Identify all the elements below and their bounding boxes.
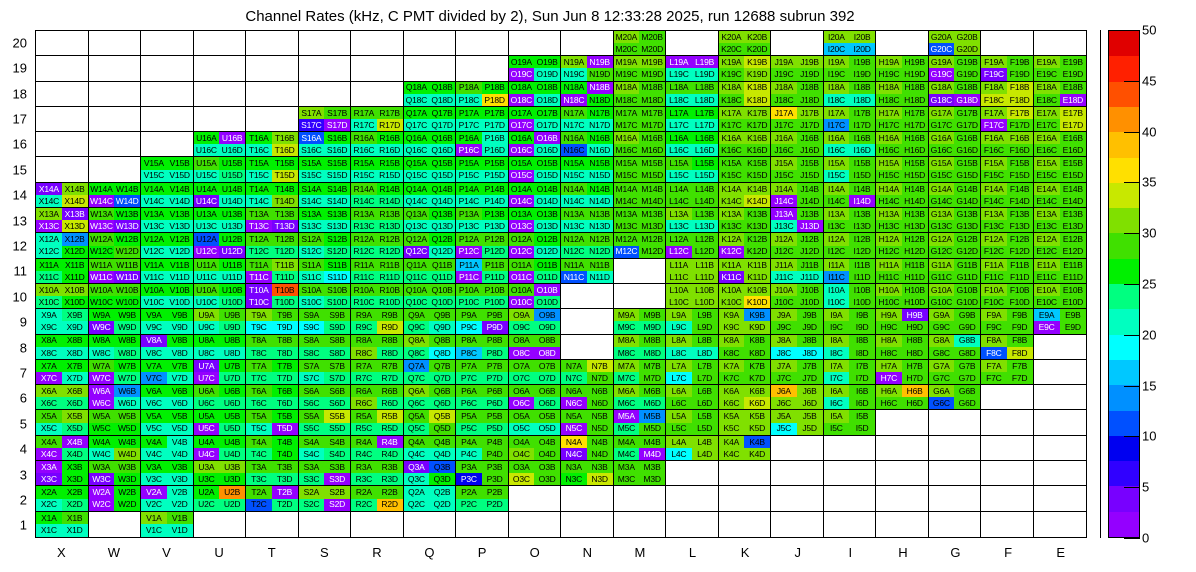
heatmap-subcell: U10D [219,296,245,308]
heatmap-subcell: U16A [194,132,220,144]
heatmap-subcell: O4B [534,436,560,448]
heatmap-subcell: O15D [534,170,560,182]
heatmap-cell-empty [614,486,667,511]
colorbar-axis-spine [1100,30,1101,538]
y-axis-label: 11 [14,264,28,279]
heatmap-cell: W9AW9BW9CW9D [89,309,142,334]
heatmap-subcell: E15A [1034,157,1060,169]
heatmap-subcell: S10A [299,284,325,296]
heatmap-subcell-empty [1007,461,1033,473]
heatmap-cell: O17AO17BO17CO17D [509,107,562,132]
heatmap-subcell: X7B [62,360,88,372]
heatmap-subcell: G20C [929,43,955,55]
heatmap-subcell: R9A [351,309,377,321]
heatmap-subcell: I15B [849,157,875,169]
heatmap-cell: V10AV10BV10CV10D [141,284,194,309]
heatmap-subcell: Q12A [404,233,430,245]
heatmap-subcell: F19A [981,56,1007,68]
heatmap-subcell: T12C [246,246,272,258]
heatmap-subcell: T6D [272,397,298,409]
heatmap-cell: H6AH6BH6CH6D [876,385,929,410]
heatmap-subcell: K16C [719,144,745,156]
heatmap-subcell: L15C [666,170,692,182]
heatmap-cell: O9AO9BO9CO9D [509,309,562,334]
heatmap-subcell: S8D [324,347,350,359]
heatmap-subcell: L4B [692,436,718,448]
heatmap-subcell: R5A [351,410,377,422]
heatmap-cell: Q2AQ2BQ2CQ2D [404,486,457,511]
heatmap-subcell-empty [1034,512,1060,525]
heatmap-subcell: G14C [929,195,955,207]
heatmap-subcell: O18A [509,82,535,94]
heatmap-subcell-empty [1034,486,1060,498]
heatmap-subcell: J5D [797,423,823,435]
heatmap-subcell: M3C [614,473,640,485]
heatmap-subcell-empty [36,119,62,131]
heatmap-cell: I20AI20BI20CI20D [824,31,877,56]
heatmap-subcell-empty [36,56,62,68]
heatmap-cell: F13AF13BF13CF13D [981,208,1034,233]
heatmap-subcell-empty [194,31,220,43]
heatmap-cell: R4AR4BR4CR4D [351,436,404,461]
heatmap-subcell-empty [771,524,797,537]
heatmap-subcell: V11A [141,259,167,271]
heatmap-subcell: U4C [194,448,220,460]
heatmap-subcell: K13A [719,208,745,220]
heatmap-subcell: N4B [587,436,613,448]
heatmap-cell: T2AT2BT2CT2D [246,486,299,511]
heatmap-subcell: U10B [219,284,245,296]
heatmap-subcell-empty [824,499,850,511]
heatmap-subcell: H17D [902,119,928,131]
heatmap-subcell: R2A [351,486,377,498]
heatmap-subcell: V9B [167,309,193,321]
heatmap-subcell: X12C [36,246,62,258]
heatmap-subcell: N6B [587,385,613,397]
heatmap-cell: Q15AQ15BQ15CQ15D [404,157,457,182]
heatmap-subcell-empty [272,107,298,119]
heatmap-subcell: P3B [482,461,508,473]
heatmap-subcell: W3C [89,473,115,485]
heatmap-subcell: W2D [114,499,140,511]
heatmap-subcell: X7D [62,372,88,384]
heatmap-subcell: Q6D [429,397,455,409]
heatmap-cell: L5AL5BL5CL5D [666,410,719,435]
heatmap-cell: M4AM4BM4CM4D [614,436,667,461]
heatmap-subcell: F9A [981,309,1007,321]
heatmap-subcell: K20A [719,31,745,43]
heatmap-subcell: W5D [114,423,140,435]
heatmap-subcell-empty [981,512,1007,525]
heatmap-subcell: M14C [614,195,640,207]
heatmap-cell: O8AO8BO8CO8D [509,335,562,360]
heatmap-subcell: L9A [666,309,692,321]
heatmap-cell-empty [981,512,1034,537]
heatmap-cell-empty [561,284,614,309]
heatmap-subcell: H11D [902,271,928,283]
heatmap-subcell: J19C [771,68,797,80]
heatmap-subcell: X3B [62,461,88,473]
heatmap-subcell: O12A [509,233,535,245]
heatmap-subcell: O13D [534,220,560,232]
heatmap-subcell: P11D [482,271,508,283]
heatmap-subcell-empty [954,499,980,511]
heatmap-subcell: S2C [299,499,325,511]
heatmap-subcell: X8C [36,347,62,359]
heatmap-subcell: R10B [377,284,403,296]
heatmap-subcell: W7A [89,360,115,372]
heatmap-subcell: S17A [299,107,325,119]
heatmap-subcell: M12D [639,246,665,258]
heatmap-subcell-empty [299,82,325,94]
heatmap-subcell: J14C [771,195,797,207]
heatmap-subcell-empty [981,423,1007,435]
heatmap-subcell: P18B [482,82,508,94]
heatmap-cell: R15AR15BR15CR15D [351,157,404,182]
heatmap-subcell: F12D [1007,246,1033,258]
heatmap-subcell: E10A [1034,284,1060,296]
heatmap-cell-empty [351,82,404,107]
heatmap-subcell: P7B [482,360,508,372]
heatmap-cell: R3AR3BR3CR3D [351,461,404,486]
heatmap-subcell: E14C [1034,195,1060,207]
heatmap-subcell: S5D [324,423,350,435]
heatmap-subcell: I20D [849,43,875,55]
heatmap-subcell: V14C [141,195,167,207]
heatmap-subcell: V7C [141,372,167,384]
heatmap-subcell: E10D [1060,296,1086,308]
heatmap-subcell: U13B [219,208,245,220]
heatmap-cell: N14AN14BN14CN14D [561,183,614,208]
heatmap-subcell: S6C [299,397,325,409]
heatmap-subcell: M15C [614,170,640,182]
heatmap-subcell: J16A [771,132,797,144]
heatmap-subcell-empty [824,512,850,525]
heatmap-subcell: M4C [614,448,640,460]
heatmap-subcell-empty [351,512,377,525]
heatmap-cell: N6AN6BN6CN6D [561,385,614,410]
heatmap-subcell-empty [876,43,902,55]
heatmap-cell: W2AW2BW2CW2D [89,486,142,511]
heatmap-subcell-empty [429,56,455,68]
heatmap-subcell-empty [246,524,272,537]
heatmap-subcell-empty [509,31,535,43]
heatmap-subcell: T13C [246,220,272,232]
heatmap-subcell: I5A [824,410,850,422]
heatmap-subcell: M16B [639,132,665,144]
heatmap-subcell: V7D [167,372,193,384]
heatmap-subcell-empty [561,499,587,511]
heatmap-subcell: K6C [719,397,745,409]
heatmap-cell-empty [36,56,89,81]
heatmap-subcell: X11D [62,271,88,283]
heatmap-subcell: V5A [141,410,167,422]
heatmap-subcell: Q13C [404,220,430,232]
heatmap-subcell-empty [876,512,902,525]
heatmap-subcell: P18A [456,82,482,94]
heatmap-subcell-empty [561,31,587,43]
heatmap-subcell: K16A [719,132,745,144]
heatmap-cell-empty [89,31,142,56]
heatmap-subcell: K8C [719,347,745,359]
heatmap-subcell: Q7B [429,360,455,372]
heatmap-subcell: X1A [36,512,62,525]
heatmap-subcell: K13B [744,208,770,220]
heatmap-subcell: N13B [587,208,613,220]
heatmap-subcell-empty [1007,436,1033,448]
heatmap-subcell-empty [404,43,430,55]
heatmap-cell: J10AJ10BJ10CJ10D [771,284,824,309]
heatmap-subcell: R4B [377,436,403,448]
heatmap-cell: L16AL16BL16CL16D [666,132,719,157]
heatmap-cell: F7AF7BF7CF7D [981,360,1034,385]
heatmap-subcell: U6A [194,385,220,397]
heatmap-subcell: I15D [849,170,875,182]
heatmap-subcell: Q18B [429,82,455,94]
heatmap-subcell-empty [482,31,508,43]
heatmap-subcell: O6C [509,397,535,409]
heatmap-subcell-empty [1060,524,1086,537]
heatmap-subcell: V11B [167,259,193,271]
heatmap-cell-empty [561,512,614,537]
heatmap-subcell: P9D [482,321,508,333]
heatmap-cell: S2AS2BS2CS2D [299,486,352,511]
heatmap-cell-empty [876,461,929,486]
colorbar-tick-label: 45 [1142,73,1156,88]
heatmap-subcell: H7A [876,360,902,372]
heatmap-subcell: Q14B [429,183,455,195]
heatmap-subcell: V9D [167,321,193,333]
y-axis-label: 14 [13,188,27,203]
heatmap-subcell: Q10A [404,284,430,296]
heatmap-subcell: P15B [482,157,508,169]
heatmap-cell-empty [719,512,772,537]
heatmap-subcell-empty [36,43,62,55]
heatmap-subcell-empty [902,436,928,448]
heatmap-subcell: I11C [824,271,850,283]
heatmap-subcell: M7B [639,360,665,372]
heatmap-subcell: R2C [351,499,377,511]
heatmap-subcell: N13A [561,208,587,220]
heatmap-cell: W6AW6BW6CW6D [89,385,142,410]
heatmap-subcell: V12D [167,246,193,258]
heatmap-subcell-empty [797,461,823,473]
heatmap-subcell: O19B [534,56,560,68]
heatmap-subcell: G12C [929,246,955,258]
heatmap-subcell: P13D [482,220,508,232]
heatmap-subcell: U9A [194,309,220,321]
heatmap-cell: W13AW13BW13CW13D [89,208,142,233]
heatmap-subcell: L9D [692,321,718,333]
heatmap-cell-empty [614,512,667,537]
heatmap-subcell-empty [902,461,928,473]
heatmap-subcell: V5B [167,410,193,422]
heatmap-subcell: G10D [954,296,980,308]
heatmap-cell: U9AU9BU9CU9D [194,309,247,334]
heatmap-cell: K12AK12BK12CK12D [719,233,772,258]
colorbar-tick-label: 10 [1142,429,1156,444]
heatmap-subcell: L17A [666,107,692,119]
heatmap-subcell: K17C [719,119,745,131]
heatmap-subcell: W5B [114,410,140,422]
heatmap-subcell-empty [981,43,1007,55]
heatmap-subcell: K19C [719,68,745,80]
colorbar-segment [1109,56,1139,81]
heatmap-cell: H14AH14BH14CH14D [876,183,929,208]
heatmap-subcell-empty [272,512,298,525]
heatmap-subcell: E17C [1034,119,1060,131]
heatmap-subcell: H12A [876,233,902,245]
colorbar-segment [1109,512,1139,537]
heatmap-subcell: O10C [509,296,535,308]
heatmap-subcell: G8B [954,335,980,347]
heatmap-subcell: X9C [36,321,62,333]
heatmap-subcell: Q11B [429,259,455,271]
heatmap-subcell: W10B [114,284,140,296]
heatmap-cell: R11AR11BR11CR11D [351,259,404,284]
heatmap-subcell: R8C [351,347,377,359]
heatmap-subcell-empty [1060,436,1086,448]
heatmap-subcell: S4C [299,448,325,460]
heatmap-subcell-empty [62,31,88,43]
heatmap-subcell: P9A [456,309,482,321]
heatmap-subcell: I14C [824,195,850,207]
heatmap-subcell: J6B [797,385,823,397]
heatmap-subcell: P6A [456,385,482,397]
heatmap-subcell: H15D [902,170,928,182]
heatmap-subcell-empty [587,512,613,525]
heatmap-subcell: X8B [62,335,88,347]
heatmap-subcell-empty [849,512,875,525]
heatmap-cell-empty [981,31,1034,56]
heatmap-subcell: J7D [797,372,823,384]
heatmap-subcell: W7C [89,372,115,384]
heatmap-cell: U6AU6BU6CU6D [194,385,247,410]
heatmap-cell: V12AV12BV12CV12D [141,233,194,258]
heatmap-subcell: F17C [981,119,1007,131]
heatmap-subcell: R7D [377,372,403,384]
heatmap-subcell: R13C [351,220,377,232]
heatmap-subcell: S15B [324,157,350,169]
heatmap-subcell: J7A [771,360,797,372]
heatmap-subcell: V8A [141,335,167,347]
heatmap-subcell: F7B [1007,360,1033,372]
heatmap-subcell-empty [114,524,140,537]
heatmap-subcell: Q17A [404,107,430,119]
heatmap-subcell: M4A [614,436,640,448]
heatmap-subcell: N12B [587,233,613,245]
heatmap-subcell: U11C [194,271,220,283]
heatmap-subcell: I19C [824,68,850,80]
heatmap-subcell: R15D [377,170,403,182]
heatmap-subcell: N16C [561,144,587,156]
heatmap-subcell: M14B [639,183,665,195]
heatmap-subcell: N12D [587,246,613,258]
heatmap-subcell: Q15C [404,170,430,182]
heatmap-subcell: Q12C [404,246,430,258]
heatmap-subcell: F9B [1007,309,1033,321]
heatmap-subcell: S3A [299,461,325,473]
heatmap-cell-empty [404,31,457,56]
heatmap-cell-empty [1034,385,1087,410]
heatmap-subcell: F15B [1007,157,1033,169]
heatmap-subcell: Q5A [404,410,430,422]
heatmap-cell-empty [141,56,194,81]
heatmap-subcell: F13B [1007,208,1033,220]
heatmap-subcell: P4A [456,436,482,448]
heatmap-subcell: U6B [219,385,245,397]
heatmap-subcell-empty [954,410,980,422]
heatmap-subcell: L19C [666,68,692,80]
heatmap-cell: P6AP6BP6CP6D [456,385,509,410]
heatmap-subcell: Q8A [404,335,430,347]
heatmap-subcell: R4D [377,448,403,460]
heatmap-subcell: F15D [1007,170,1033,182]
heatmap-subcell: S5A [299,410,325,422]
heatmap-subcell: R17B [377,107,403,119]
heatmap-cell: E19AE19BE19CE19D [1034,56,1087,81]
heatmap-subcell: P4D [482,448,508,460]
heatmap-subcell: N4D [587,448,613,460]
heatmap-cell: M20AM20BM20CM20D [614,31,667,56]
heatmap-subcell: X14A [36,183,62,195]
heatmap-cell: N15AN15BN15CN15D [561,157,614,182]
heatmap-subcell: J15A [771,157,797,169]
heatmap-subcell: T6C [246,397,272,409]
heatmap-subcell: G19A [929,56,955,68]
heatmap-subcell: J15D [797,170,823,182]
heatmap-subcell-empty [62,132,88,144]
heatmap-subcell-empty [246,107,272,119]
heatmap-subcell: X5D [62,423,88,435]
heatmap-subcell: L8D [692,347,718,359]
heatmap-subcell: T11C [246,271,272,283]
heatmap-subcell: S12C [299,246,325,258]
heatmap-subcell: W2C [89,499,115,511]
heatmap-subcell: X2B [62,486,88,498]
heatmap-subcell: M16A [614,132,640,144]
heatmap-subcell-empty [246,512,272,525]
heatmap-subcell-empty [614,296,640,308]
heatmap-cell-empty [36,132,89,157]
heatmap-subcell: K14B [744,183,770,195]
heatmap-cell: M8AM8BM8CM8D [614,335,667,360]
heatmap-cell: S14AS14BS14CS14D [299,183,352,208]
heatmap-subcell: S10B [324,284,350,296]
heatmap-cell: T13AT13BT13CT13D [246,208,299,233]
heatmap-cell: H16AH16BH16CH16D [876,132,929,157]
heatmap-cell: X8AX8BX8CX8D [36,335,89,360]
heatmap-subcell: M4B [639,436,665,448]
heatmap-subcell-empty [219,56,245,68]
heatmap-cell: U12AU12BU12CU12D [194,233,247,258]
heatmap-subcell: W8D [114,347,140,359]
heatmap-cell: Q9AQ9BQ9CQ9D [404,309,457,334]
heatmap-subcell-empty [141,43,167,55]
heatmap-subcell-empty [614,524,640,537]
heatmap-subcell: P16B [482,132,508,144]
heatmap-subcell: J17C [771,119,797,131]
heatmap-subcell: Q5C [404,423,430,435]
heatmap-subcell: T3B [272,461,298,473]
heatmap-cell-empty [89,132,142,157]
heatmap-subcell: R5B [377,410,403,422]
heatmap-subcell: G14D [954,195,980,207]
heatmap-cell: M15AM15BM15CM15D [614,157,667,182]
heatmap-subcell-empty [219,68,245,80]
colorbar-tick-mark [1124,81,1140,82]
heatmap-subcell: M5B [639,410,665,422]
